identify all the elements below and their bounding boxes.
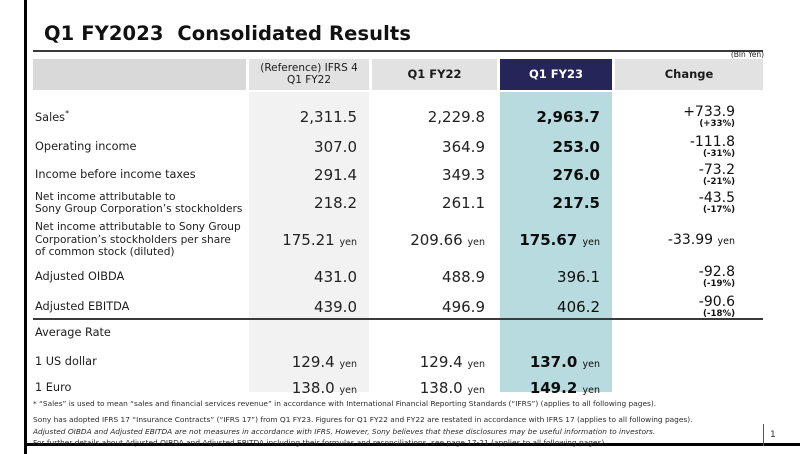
title-underline <box>33 50 763 52</box>
cell-ifrs4: 175.21 yen <box>249 231 369 249</box>
cell-change: -111.8 (-31%) <box>615 135 763 160</box>
table-row: Income before income taxes 291.4 349.3 2… <box>33 162 763 188</box>
table-row: Net income attributable to Sony Group Co… <box>33 188 763 218</box>
cell-ifrs4: 2,311.5 <box>249 108 369 126</box>
footnote-ifrs17: Sony has adopted IFRS 17 “Insurance Cont… <box>33 414 769 425</box>
cell-q1fy23: 217.5 <box>500 194 612 212</box>
cell-ifrs4: 218.2 <box>249 194 369 212</box>
cell-q1fy22: 496.9 <box>372 298 497 316</box>
yen-unit: yen <box>340 385 358 396</box>
header-q1fy22-label: Q1 FY22 <box>408 68 462 81</box>
cell-q1fy22: 488.9 <box>372 268 497 286</box>
table-header-q1fy23: Q1 FY23 <box>500 59 612 90</box>
header-q1fy23-label: Q1 FY23 <box>529 68 583 81</box>
table-header-q1fy22: Q1 FY22 <box>372 59 497 90</box>
table-header-blank <box>33 59 246 90</box>
cell-q1fy23: 406.2 <box>500 298 612 316</box>
table-row: Operating income 307.0 364.9 253.0 -111.… <box>33 134 763 160</box>
cell-q1fy23: 276.0 <box>500 166 612 184</box>
footnote-marker: * <box>65 109 69 118</box>
row-label: Adjusted OIBDA <box>33 270 249 283</box>
row-label: Net income attributable to Sony Group Co… <box>33 191 249 216</box>
cell-q1fy22: 209.66 yen <box>372 231 497 249</box>
change-value: -92.8 <box>615 265 735 279</box>
table-row: 1 Euro 138.0 yen 138.0 yen 149.2 yen <box>33 376 763 400</box>
header-ifrs4-line2: Q1 FY22 <box>287 74 331 86</box>
row-label: Adjusted EBITDA <box>33 300 249 313</box>
change-value: -43.5 <box>615 191 735 205</box>
cell-ifrs4: 307.0 <box>249 138 369 156</box>
slide-canvas: Q1 FY2023 Consolidated Results (Bln Yen)… <box>0 0 800 454</box>
page-number-divider <box>763 424 764 446</box>
yen-unit: yen <box>468 237 486 248</box>
cell-q1fy22: 129.4 yen <box>372 353 497 371</box>
cell-change: -73.2 (-21%) <box>615 163 763 188</box>
cell-ifrs4: 138.0 yen <box>249 379 369 397</box>
footnote-adjusted-measures: Adjusted OIBDA and Adjusted EBITDA are n… <box>33 426 769 437</box>
table-row: Sales* 2,311.5 2,229.8 2,963.7 +733.9 (+… <box>33 104 763 130</box>
change-percent: (-17%) <box>615 205 735 216</box>
cell-q1fy23: 149.2 yen <box>500 379 612 397</box>
table-row: Adjusted EBITDA 439.0 496.9 406.2 -90.6 … <box>33 294 763 320</box>
header-ifrs4-line1: (Reference) IFRS 4 <box>260 62 358 74</box>
yen-unit: yen <box>468 359 486 370</box>
cell-q1fy22: 2,229.8 <box>372 108 497 126</box>
yen-unit: yen <box>340 237 358 248</box>
yen-unit: yen <box>583 385 601 396</box>
row-label: Operating income <box>33 140 249 153</box>
cell-ifrs4: 431.0 <box>249 268 369 286</box>
page-number: 1 <box>770 430 776 440</box>
change-percent: (-21%) <box>615 177 735 188</box>
table-row: Net income attributable to Sony Group Co… <box>33 222 763 258</box>
change-value: -33.99 yen <box>615 233 735 247</box>
row-label: Sales* <box>33 109 249 124</box>
page-title: Q1 FY2023 Consolidated Results <box>44 22 411 45</box>
cell-q1fy23: 137.0 yen <box>500 353 612 371</box>
table-row: Adjusted OIBDA 431.0 488.9 396.1 -92.8 (… <box>33 264 763 290</box>
average-rate-divider <box>33 318 763 320</box>
cell-q1fy23: 253.0 <box>500 138 612 156</box>
cell-q1fy23: 2,963.7 <box>500 108 612 126</box>
change-percent: (-31%) <box>615 149 735 160</box>
table-header-ifrs4: (Reference) IFRS 4 Q1 FY22 <box>249 59 369 90</box>
change-value: +733.9 <box>615 105 735 119</box>
average-rate-section-label: Average Rate <box>33 326 249 339</box>
row-label: Income before income taxes <box>33 168 249 181</box>
cell-ifrs4: 439.0 <box>249 298 369 316</box>
yen-unit: yen <box>468 385 486 396</box>
row-label: Net income attributable to Sony Group Co… <box>33 221 249 259</box>
cell-change: +733.9 (+33%) <box>615 105 763 130</box>
cell-change: -33.99 yen <box>615 233 763 247</box>
cell-q1fy22: 364.9 <box>372 138 497 156</box>
cell-change: -43.5 (-17%) <box>615 191 763 216</box>
yen-unit: yen <box>583 359 601 370</box>
cell-change: -92.8 (-19%) <box>615 265 763 290</box>
change-value: -111.8 <box>615 135 735 149</box>
row-label: 1 US dollar <box>33 355 249 368</box>
yen-unit: yen <box>340 359 358 370</box>
cell-q1fy22: 349.3 <box>372 166 497 184</box>
footnote-sales-definition: * “Sales” is used to mean “sales and fin… <box>33 398 769 409</box>
yen-unit: yen <box>583 237 601 248</box>
table-header-change: Change <box>615 59 763 90</box>
cell-change: -90.6 (-18%) <box>615 295 763 320</box>
change-value: -90.6 <box>615 295 735 309</box>
cell-ifrs4: 291.4 <box>249 166 369 184</box>
footnote-adjusted-details: For further details about Adjusted OIBDA… <box>33 437 769 448</box>
table-row: 1 US dollar 129.4 yen 129.4 yen 137.0 ye… <box>33 350 763 374</box>
header-change-label: Change <box>665 68 714 81</box>
yen-unit: yen <box>718 236 736 247</box>
change-value: -73.2 <box>615 163 735 177</box>
cell-q1fy23: 175.67 yen <box>500 231 612 249</box>
footnotes-block: * “Sales” is used to mean “sales and fin… <box>33 398 769 448</box>
change-percent: (-19%) <box>615 279 735 290</box>
unit-note: (Bln Yen) <box>731 50 764 59</box>
row-label: 1 Euro <box>33 381 249 394</box>
slide-left-rule <box>24 0 27 454</box>
cell-q1fy23: 396.1 <box>500 268 612 286</box>
cell-q1fy22: 261.1 <box>372 194 497 212</box>
cell-ifrs4: 129.4 yen <box>249 353 369 371</box>
change-percent: (+33%) <box>615 119 735 130</box>
average-rate-heading-row: Average Rate <box>33 322 763 344</box>
cell-q1fy22: 138.0 yen <box>372 379 497 397</box>
